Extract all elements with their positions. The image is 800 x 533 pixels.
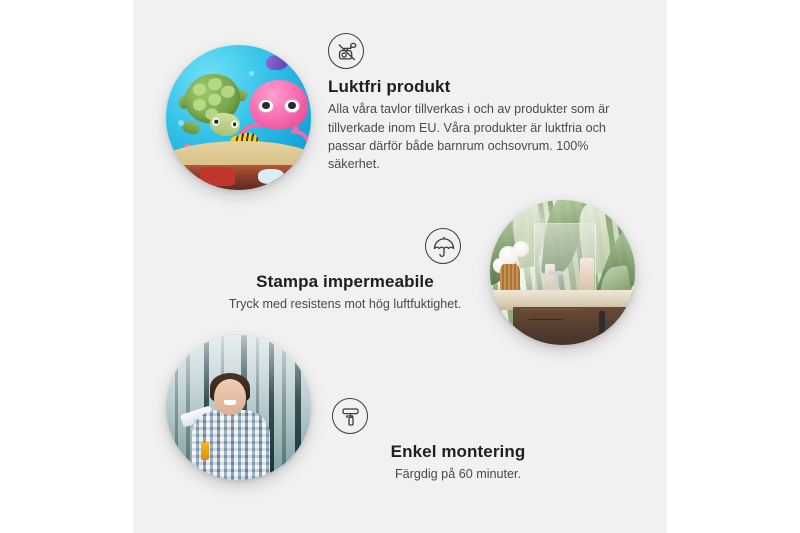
screenshot-stage: Luktfri produkt Alla våra tavlor tillver… [0,0,800,533]
blue-fish-icon [266,55,288,70]
tree-trunk [175,335,178,480]
paint-roller-icon [332,398,368,434]
tree-trunk [186,335,190,480]
content-panel: Luktfri produkt Alla våra tavlor tillver… [133,0,667,533]
faucet-icon [554,275,557,291]
no-fragrance-spray-bottle-icon [328,33,364,69]
tree-trunk [295,335,301,480]
photo-painter-circle[interactable] [166,335,311,480]
feature-body: Tryck med resistens mot hög luftfuktighe… [195,295,495,313]
feature-block-odourless: Luktfri produkt Alla våra tavlor tillver… [328,33,618,173]
photo-painter-image [166,335,311,480]
feature-title: Luktfri produkt [328,77,618,97]
feature-body: Färgdig på 60 minuter. [318,465,598,483]
octopus-head [250,80,308,129]
feature-body: Alla våra tavlor tillverkas i och av pro… [328,100,618,173]
photo-ocean-image [166,45,311,190]
feature-title: Enkel montering [318,442,598,462]
cabinet-handle [599,311,604,337]
drawer-handle [529,319,563,321]
painter-face [214,379,246,415]
painter-smile [224,400,236,404]
photo-bathroom-circle[interactable] [490,200,635,345]
feature-title: Stampa impermeabile [195,272,495,292]
tree-trunk [282,335,286,480]
feature-block-waterproof: Stampa impermeabile Tryck med resistens … [195,228,495,314]
bathroom-vanity [513,307,635,345]
umbrella-icon [425,228,461,264]
white-flower [513,241,529,257]
bubble-icon [249,71,254,76]
photo-ocean-circle[interactable] [166,45,311,190]
toiletry-bottle [580,258,595,293]
paint-roller-grip [201,442,210,459]
feature-block-assembly: Enkel montering Färgdig på 60 minuter. [318,398,598,484]
photo-bathroom-image [490,200,635,345]
sea-floor-objects [166,165,311,190]
